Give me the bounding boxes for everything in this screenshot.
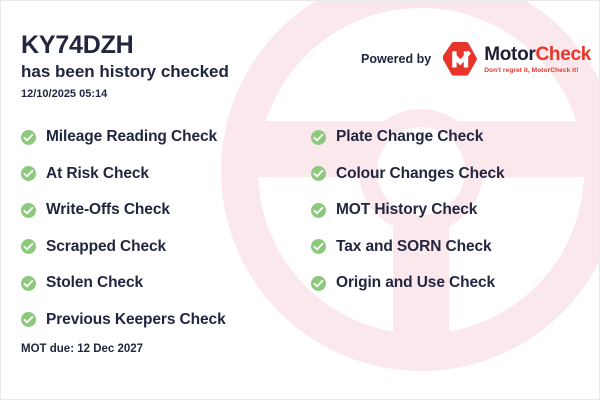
check-circle-icon (21, 203, 36, 218)
check-circle-icon (311, 130, 326, 145)
check-circle-icon (311, 276, 326, 291)
footer: MOT due: 12 Dec 2027 (21, 343, 143, 355)
list-item: MOT History Check (311, 192, 589, 229)
check-label: MOT History Check (336, 201, 477, 219)
vehicle-registration-plate: KY74DZH (21, 31, 229, 60)
checks-left-column: Mileage Reading Check At Risk Check Writ… (21, 119, 311, 338)
vehicle-history-check-card: KY74DZH has been history checked 12/10/2… (0, 0, 600, 400)
check-circle-icon (21, 276, 36, 291)
list-item: Tax and SORN Check (311, 229, 589, 266)
list-item: Write-Offs Check (21, 192, 311, 229)
check-circle-icon (21, 312, 36, 327)
list-item: Stolen Check (21, 265, 311, 302)
check-timestamp: 12/10/2025 05:14 (21, 88, 229, 100)
motorcheck-wordmark-block: MotorCheck Don't regret it, MotorCheck i… (484, 45, 591, 74)
list-item: Scrapped Check (21, 229, 311, 266)
wordmark-check: Check (535, 44, 591, 65)
motorcheck-wordmark: MotorCheck (484, 45, 591, 64)
check-label: At Risk Check (46, 165, 149, 183)
check-label: Plate Change Check (336, 128, 483, 146)
powered-by-label: Powered by (361, 52, 431, 66)
check-label: Mileage Reading Check (46, 128, 217, 146)
list-item: Plate Change Check (311, 119, 589, 156)
motorcheck-hexagon-m-icon (443, 41, 477, 77)
check-label: Stolen Check (46, 274, 143, 292)
page-subtitle: has been history checked (21, 61, 229, 83)
checks-right-column: Plate Change Check Colour Changes Check … (311, 119, 589, 338)
check-circle-icon (21, 166, 36, 181)
wordmark-motor: Motor (484, 44, 535, 65)
list-item: Mileage Reading Check (21, 119, 311, 156)
mot-due-text: MOT due: 12 Dec 2027 (21, 343, 143, 355)
check-label: Origin and Use Check (336, 274, 495, 292)
check-label: Scrapped Check (46, 238, 166, 256)
brand-tagline: Don't regret it, MotorCheck it! (484, 67, 591, 74)
check-label: Tax and SORN Check (336, 238, 492, 256)
list-item: Origin and Use Check (311, 265, 589, 302)
check-label: Write-Offs Check (46, 201, 170, 219)
header: KY74DZH has been history checked 12/10/2… (21, 31, 229, 100)
check-circle-icon (311, 239, 326, 254)
check-label: Previous Keepers Check (46, 311, 226, 329)
powered-by-block: Powered by MotorCheck Don't regret it, M… (361, 41, 591, 77)
check-circle-icon (311, 166, 326, 181)
check-circle-icon (311, 203, 326, 218)
checks-container: Mileage Reading Check At Risk Check Writ… (21, 119, 589, 338)
check-circle-icon (21, 239, 36, 254)
list-item: Previous Keepers Check (21, 302, 311, 339)
list-item: At Risk Check (21, 156, 311, 193)
check-circle-icon (21, 130, 36, 145)
check-label: Colour Changes Check (336, 165, 505, 183)
list-item: Colour Changes Check (311, 156, 589, 193)
